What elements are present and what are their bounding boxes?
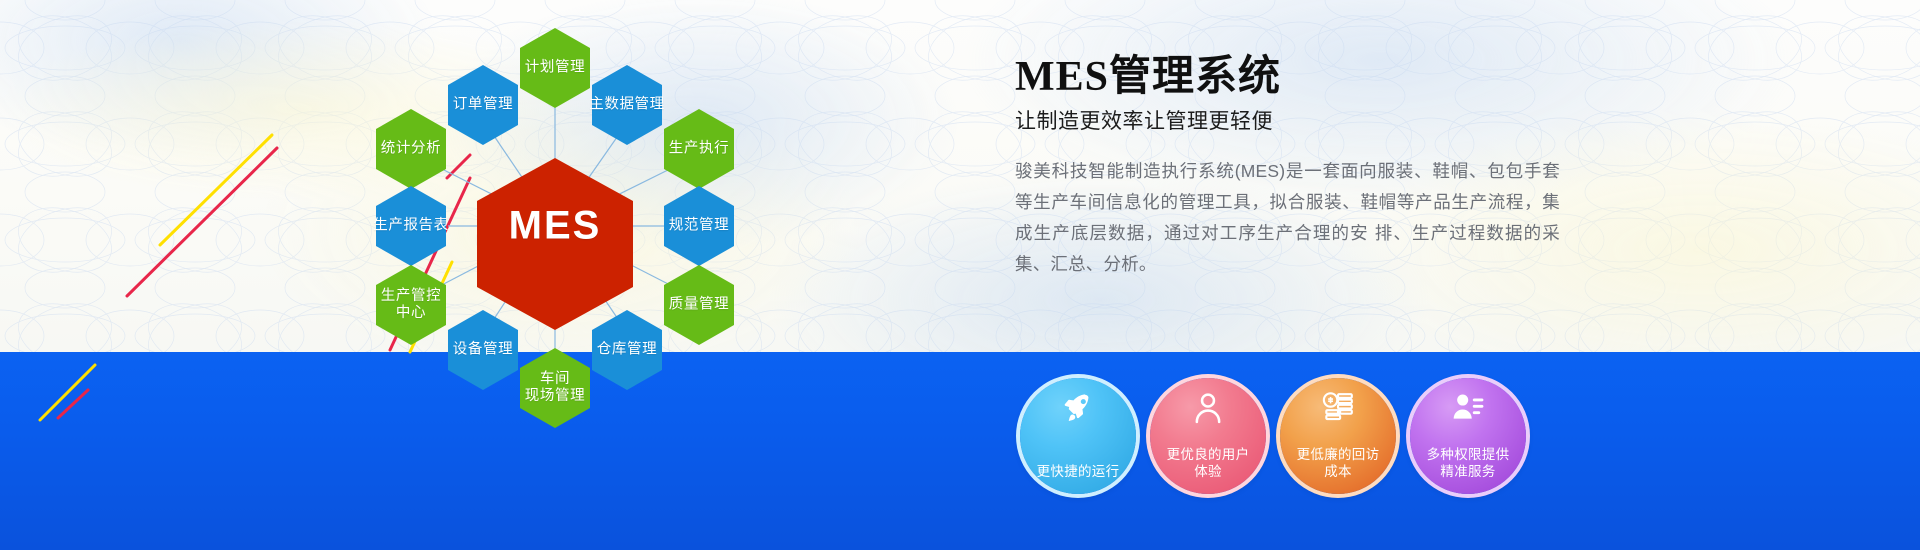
rocket-icon [1061, 391, 1095, 425]
badge-label-accuracy: 多种权限提供 精准服务 [1416, 446, 1520, 480]
hex-spec [664, 186, 734, 266]
page-subtitle: 让制造更效率让管理更轻便 [1015, 109, 1615, 134]
user-icon [1191, 391, 1225, 425]
hex-masterdata [592, 65, 662, 145]
mes-hexagon-diagram: MES 计划管理 订单管理 主数据管理 统计分析 生产执行 生产报告表 规范管理… [330, 10, 800, 430]
badge-accuracy[interactable]: 多种权限提供 精准服务 [1410, 378, 1526, 494]
hex-order [448, 65, 518, 145]
hex-warehouse [592, 310, 662, 390]
hex-plan [520, 28, 590, 108]
feature-badge-row: 更快捷的运行 更优良的用户 体验 更低廉的回访 成本 [1020, 378, 1580, 498]
hex-workshop [520, 348, 590, 428]
hex-report [376, 186, 446, 266]
background-bottom-band [0, 352, 1920, 550]
page-title: MES管理系统 [1015, 55, 1615, 99]
badge-fast[interactable]: 更快捷的运行 [1020, 378, 1136, 494]
hex-control [376, 265, 446, 345]
badge-label-cost: 更低廉的回访 成本 [1286, 446, 1390, 480]
hex-stats [376, 109, 446, 189]
guilloche-pattern [0, 0, 1920, 352]
banner-stage: MES 计划管理 订单管理 主数据管理 统计分析 生产执行 生产报告表 规范管理… [0, 0, 1920, 550]
roles-icon [1451, 391, 1485, 425]
hex-execute [664, 109, 734, 189]
hex-quality [664, 265, 734, 345]
badge-ux[interactable]: 更优良的用户 体验 [1150, 378, 1266, 494]
hex-center-mes [477, 158, 633, 330]
description-paragraph: 骏美科技智能制造执行系统(MES)是一套面向服装、鞋帽、包包手套等生产车间信息化… [1015, 156, 1560, 280]
content-column: MES管理系统 让制造更效率让管理更轻便 骏美科技智能制造执行系统(MES)是一… [1015, 55, 1615, 280]
badge-label-fast: 更快捷的运行 [1026, 463, 1130, 480]
badge-label-ux: 更优良的用户 体验 [1156, 446, 1260, 480]
badge-cost[interactable]: 更低廉的回访 成本 [1280, 378, 1396, 494]
coins-icon [1321, 391, 1355, 425]
hexagon-svg [330, 10, 800, 430]
hex-equipment [448, 310, 518, 390]
